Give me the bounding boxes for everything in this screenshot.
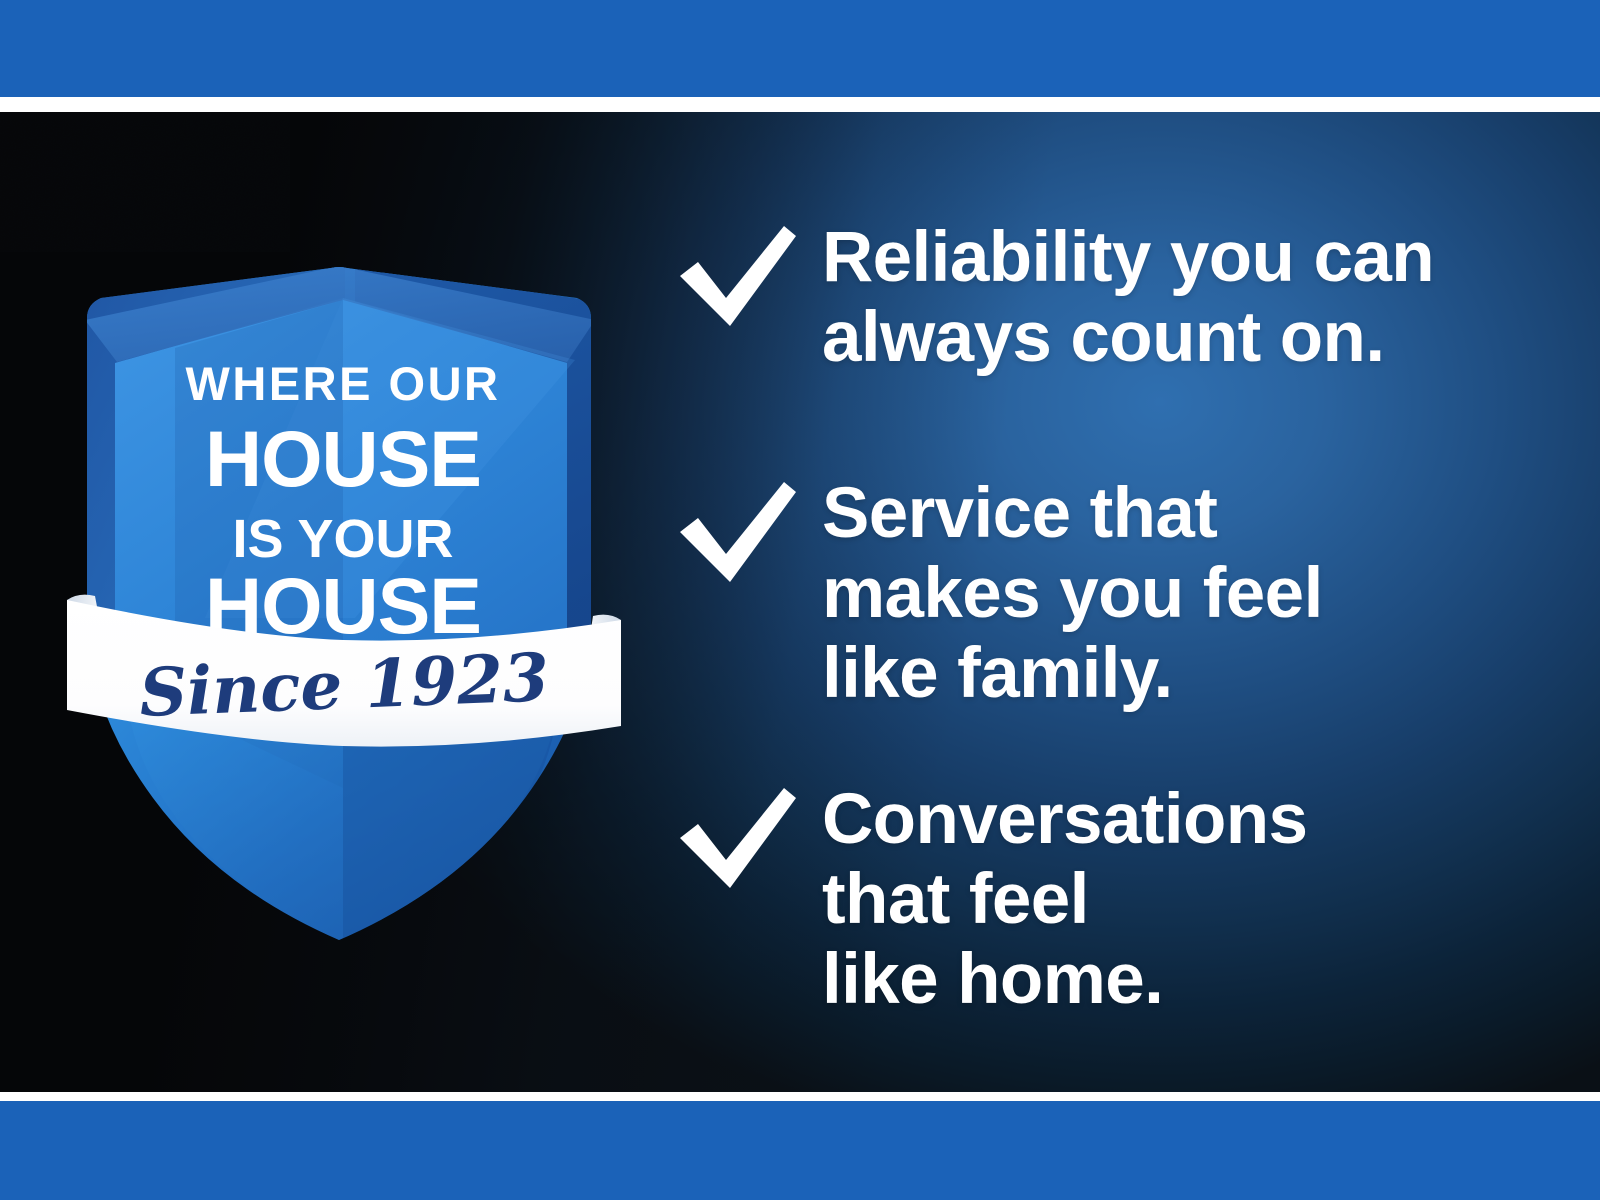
benefit-text-service: Service that makes you feel like family. — [822, 474, 1532, 714]
tagline-line-house-1: HOUSE — [205, 414, 481, 503]
benefit-item-conversations: Conversations that feel like home. — [672, 780, 1532, 1020]
benefits-list: Reliability you can always count on. Ser… — [672, 112, 1532, 1092]
tagline-line-where-our: WHERE OUR — [186, 357, 501, 410]
check-icon-wrap — [672, 218, 822, 334]
benefit-text-conversations: Conversations that feel like home. — [822, 780, 1532, 1020]
promo-graphic: WHERE OUR HOUSE IS YOUR HOUSE Since 1923 — [0, 0, 1600, 1200]
check-icon — [672, 224, 800, 334]
bottom-brand-bar — [0, 1101, 1600, 1200]
benefit-item-reliability: Reliability you can always count on. — [672, 218, 1532, 378]
benefit-item-service: Service that makes you feel like family. — [672, 474, 1532, 714]
check-icon-wrap — [672, 474, 822, 590]
top-brand-bar — [0, 0, 1600, 97]
check-icon — [672, 786, 800, 896]
shield-logo: WHERE OUR HOUSE IS YOUR HOUSE Since 1923 — [55, 148, 635, 958]
check-icon — [672, 480, 800, 590]
check-icon-wrap — [672, 780, 822, 896]
tagline-line-is-your: IS YOUR — [232, 509, 453, 569]
ribbon-since-text: Since 1923 — [138, 638, 550, 732]
benefit-text-reliability: Reliability you can always count on. — [822, 218, 1532, 378]
